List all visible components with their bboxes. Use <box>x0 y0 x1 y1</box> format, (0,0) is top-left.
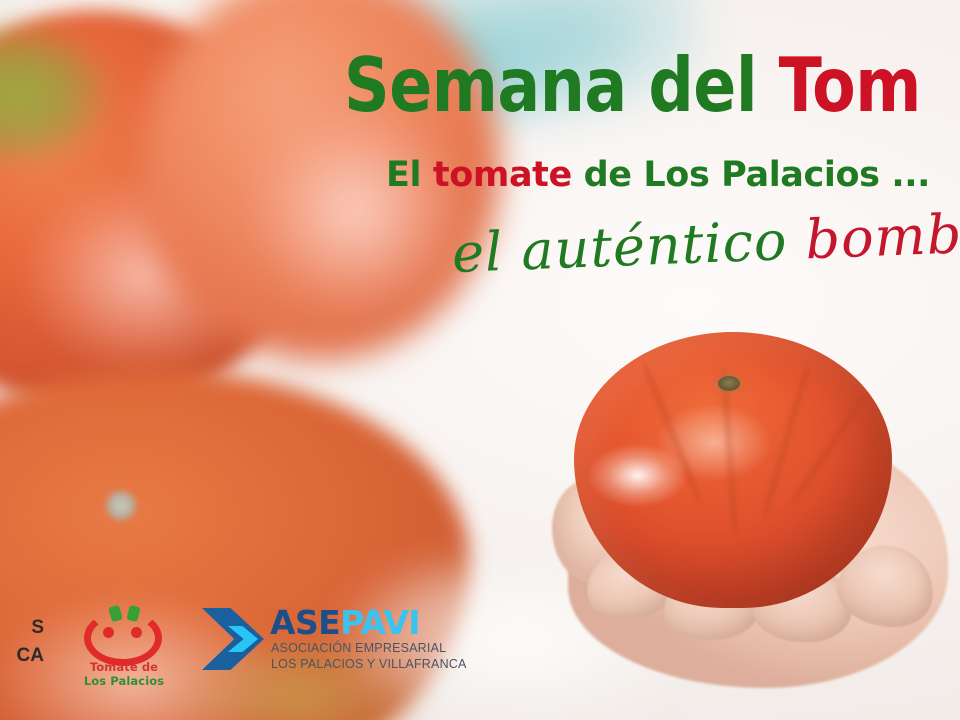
asepavi-word-dark: ASE <box>270 603 340 642</box>
blurred-tomato-stem-scar <box>104 490 138 524</box>
chevron-icon <box>202 608 264 670</box>
tomato-lobe-crease <box>638 361 705 505</box>
logo-asepavi: ASEPAVI ASOCIACIÓN EMPRESARIAL LOS PALAC… <box>202 604 454 684</box>
asepavi-subtitle-line-2: LOS PALACIOS Y VILLAFRANCA <box>271 656 467 672</box>
hand-holding-tomato <box>556 330 960 720</box>
tomato-smile-ring <box>84 610 162 666</box>
tomato-eye-left <box>103 627 114 638</box>
asepavi-subtitle-line-1: ASOCIACIÓN EMPRESARIAL <box>271 640 467 656</box>
logo-strip: S CA Tomate de Los Palacios ASEPAVI <box>0 596 500 692</box>
asepavi-word-cyan: PAVI <box>340 603 420 642</box>
smiling-tomato-icon <box>84 610 162 666</box>
tomato-lobe-crease <box>758 363 814 520</box>
logo-tomate-line-1: Tomate de <box>66 660 182 674</box>
cropped-logo-line-2: CA <box>0 642 44 670</box>
promo-banner: Semana del Tom El tomate de Los Palacios… <box>0 0 960 720</box>
logo-tomate-line-2: Los Palacios <box>66 674 182 688</box>
cropped-partner-logo: S CA <box>0 614 44 669</box>
tomato-eye-right <box>131 627 142 638</box>
asepavi-subtitle: ASOCIACIÓN EMPRESARIAL LOS PALACIOS Y VI… <box>271 640 467 672</box>
cropped-logo-line-1: S <box>0 614 44 642</box>
logo-tomate-de-los-palacios: Tomate de Los Palacios <box>66 600 182 688</box>
tomato-stem-scar <box>718 376 740 391</box>
featured-tomato <box>574 332 892 608</box>
asepavi-wordmark: ASEPAVI <box>270 606 420 639</box>
logo-tomate-text: Tomate de Los Palacios <box>66 660 182 688</box>
tomato-lobe-crease <box>718 366 741 536</box>
